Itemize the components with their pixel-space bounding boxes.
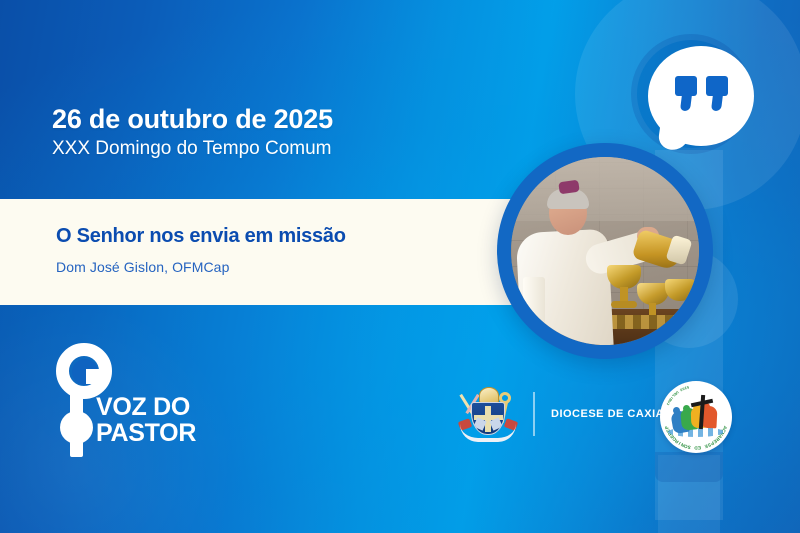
watermark-crosier-notch [655, 452, 723, 482]
brand-line-1: VOZ DO [96, 395, 196, 421]
quotation-marks [668, 76, 734, 116]
photo-candle [523, 277, 545, 331]
photo-chalice-2-stem [649, 303, 656, 315]
diocese-coat-of-arms-icon [459, 386, 517, 444]
bishop-photo [511, 157, 699, 345]
quote-glyph-left [675, 76, 697, 112]
bishop-photo-frame [497, 143, 713, 359]
jubilee-head-green [683, 405, 690, 412]
brand-line-2: PASTOR [96, 421, 196, 447]
lockup-divider [533, 392, 535, 436]
brand-wordmark: VOZ DO PASTOR [96, 395, 196, 446]
date-full: 26 de outubro de 2025 [52, 104, 333, 134]
voz-do-pastor-logo[interactable]: VOZ DO PASTOR [48, 343, 248, 455]
jubilee-figures [672, 405, 722, 431]
crosier-base [70, 441, 83, 457]
photo-candle-base [519, 329, 549, 339]
page-title: O Senhor nos envia em missão [56, 225, 346, 248]
jubilee-2025-logo-icon[interactable]: PEREGRINOS DE ESPERANÇAJUBILEU 2025 [660, 381, 732, 453]
diocese-lockup[interactable]: DIOCESE DE CAXIAS DO SUL [459, 386, 659, 444]
jubilee-head-blue [673, 407, 680, 414]
photo-wall-upper [511, 157, 699, 221]
photo-chalice-1-foot [611, 301, 637, 308]
date-block: 26 de outubro de 2025 XXX Domingo do Tem… [52, 104, 333, 162]
quote-glyph-right [706, 76, 728, 112]
liturgical-day: XXX Domingo do Tempo Comum [52, 136, 333, 162]
author-name: Dom José Gislon, OFMCap [56, 259, 229, 275]
title-banner: O Senhor nos envia em missão Dom José Gi… [0, 199, 543, 305]
arms-ribbon [460, 424, 516, 442]
announcement-card: 26 de outubro de 2025 XXX Domingo do Tem… [0, 0, 800, 533]
crosier-knob [60, 411, 93, 444]
crosier-curl-opening [86, 369, 108, 384]
